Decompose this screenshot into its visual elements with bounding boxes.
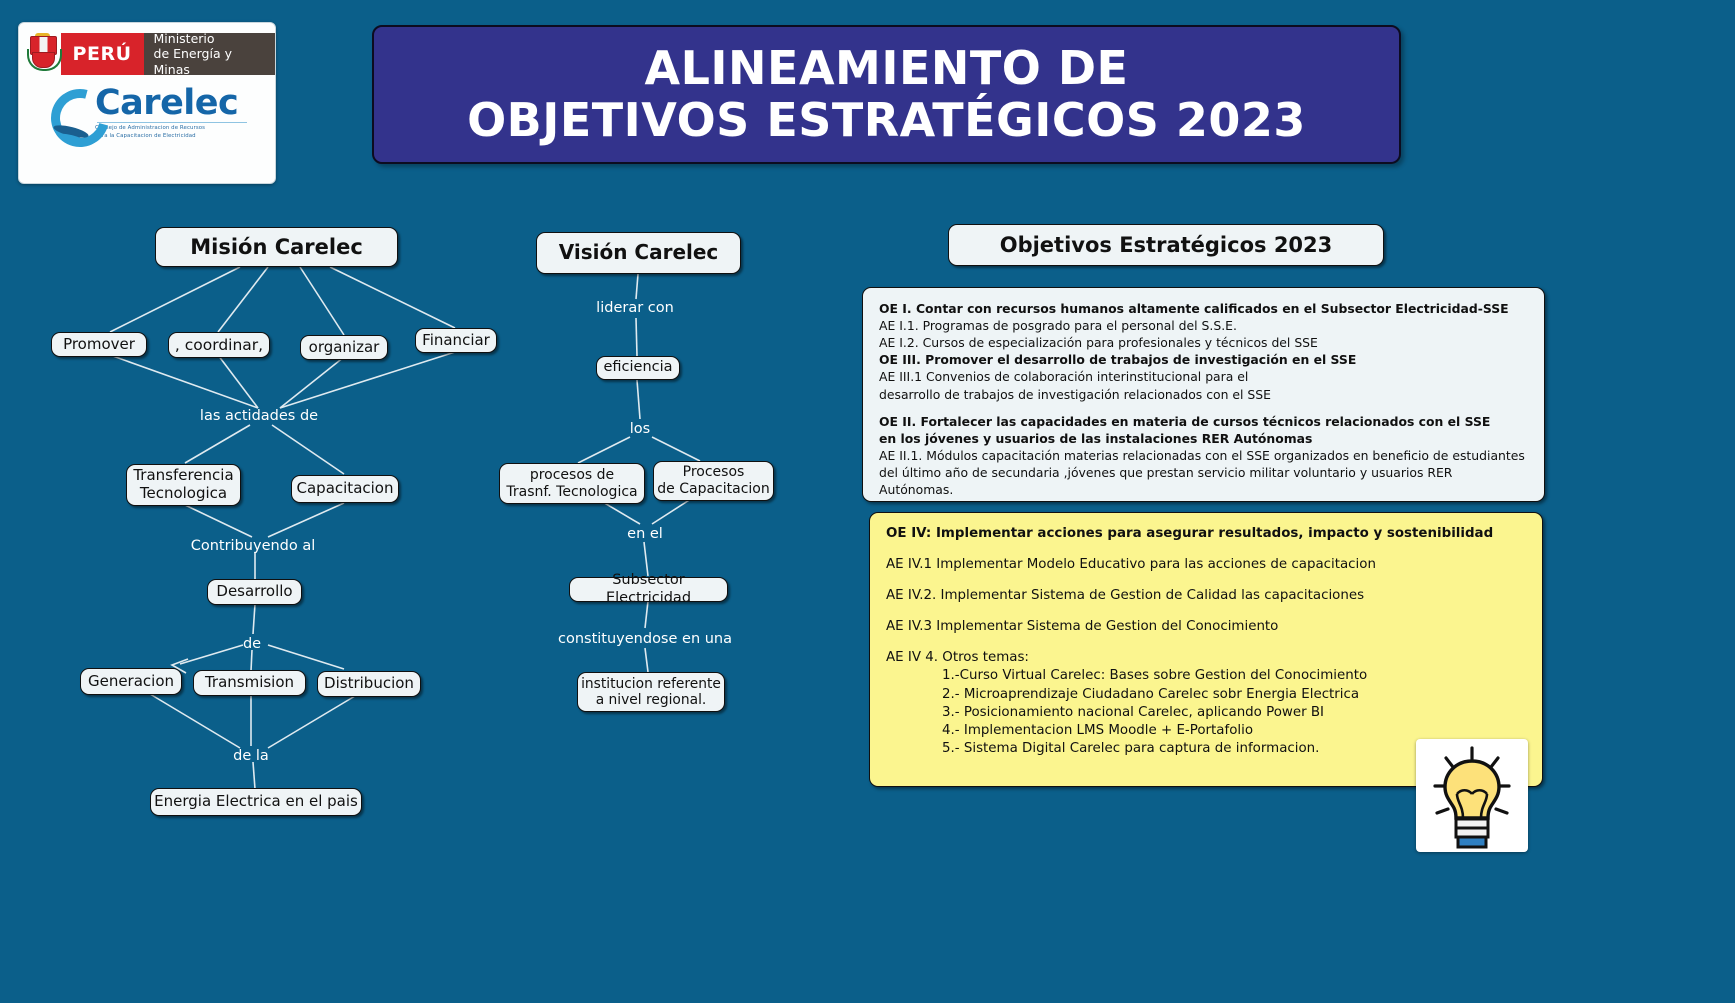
peru-label: PERÚ [61, 33, 144, 75]
node-distribucion[interactable]: Distribucion [317, 671, 421, 697]
oe4-item-4: 4.- Implementacion LMS Moodle + E-Portaf… [886, 722, 1526, 740]
ae43-text: AE IV.3 Implementar Sistema de Gestion d… [886, 618, 1526, 636]
node-desarrollo[interactable]: Desarrollo [207, 579, 302, 605]
ae42-text: AE IV.2. Implementar Sistema de Gestion … [886, 587, 1526, 605]
node-mision-carelec[interactable]: Misión Carelec [155, 227, 398, 267]
oe2-title-line-1: OE II. Fortalecer las capacidades en mat… [879, 413, 1528, 430]
ae12-text: AE I.2. Cursos de especialización para p… [879, 334, 1528, 351]
link-label-de-la: de la [233, 748, 269, 764]
node-eficiencia[interactable]: eficiencia [596, 356, 680, 380]
ministry-line-2: de Energía y Minas [154, 46, 265, 77]
page-title-line-1: ALINEAMIENTO DE [467, 43, 1306, 95]
panel-spacer [879, 403, 1528, 413]
ministry-line-1: Ministerio [154, 31, 265, 46]
node-energia-electrica-en-el-pais[interactable]: Energia Electrica en el pais [150, 788, 362, 816]
node-financiar[interactable]: Financiar [415, 328, 497, 353]
ae21-text-line-2: del último año de secundaria ,jóvenes qu… [879, 464, 1528, 498]
oe3-title: OE III. Promover el desarrollo de trabaj… [879, 351, 1528, 368]
page-title-banner: ALINEAMIENTO DE OBJETIVOS ESTRATÉGICOS 2… [372, 25, 1401, 164]
node-subsector-electricidad[interactable]: Subsector Electricidad [569, 577, 728, 602]
ae21-text-line-1: AE II.1. Módulos capacitación materias r… [879, 447, 1528, 464]
carelec-tagline-1: Consejo de Administracion de Recursos [95, 125, 247, 132]
node-vision-carelec[interactable]: Visión Carelec [536, 232, 741, 274]
node-organizar[interactable]: organizar [300, 335, 388, 360]
ae31-text-line-1: AE III.1 Convenios de colaboración inter… [879, 368, 1528, 385]
carelec-swoosh-icon [47, 87, 99, 143]
node-capacitacion[interactable]: Capacitacion [291, 475, 399, 503]
page-title-line-2: OBJETIVOS ESTRATÉGICOS 2023 [467, 95, 1306, 147]
lightbulb-illustration [1416, 739, 1528, 852]
institution-logo-card: PERÚ Ministerio de Energía y Minas Carel… [18, 22, 276, 184]
link-label-de: de [243, 636, 261, 652]
ae31-text-line-2: desarrollo de trabajos de investigación … [879, 386, 1528, 403]
panel-objetivos-oe1-oe3-oe2: OE I. Contar con recursos humanos altame… [862, 287, 1545, 502]
oe4-item-2: 2.- Microaprendizaje Ciudadano Carelec s… [886, 686, 1526, 704]
ministry-name: Ministerio de Energía y Minas [144, 33, 275, 75]
concept-map-canvas: PERÚ Ministerio de Energía y Minas Carel… [0, 0, 1735, 1003]
lightbulb-icon [1416, 739, 1528, 852]
ae44-text: AE IV 4. Otros temas: [886, 649, 1526, 667]
ae41-text: AE IV.1 Implementar Modelo Educativo par… [886, 556, 1526, 574]
carelec-brand-text: Carelec [95, 87, 247, 120]
link-label-constituyendose-en-una: constituyendose en una [558, 631, 732, 647]
link-label-las-actividades-de: las actidades de [200, 408, 318, 424]
page-title: ALINEAMIENTO DE OBJETIVOS ESTRATÉGICOS 2… [467, 43, 1306, 146]
peru-coat-of-arms-icon [23, 33, 61, 75]
node-generacion[interactable]: Generacion [80, 668, 182, 695]
oe1-title: OE I. Contar con recursos humanos altame… [879, 300, 1528, 317]
ae11-text: AE I.1. Programas de posgrado para el pe… [879, 317, 1528, 334]
node-transferencia-tecnologica[interactable]: Transferencia Tecnologica [126, 464, 241, 506]
node-transmision[interactable]: Transmision [193, 670, 306, 696]
oe4-item-3: 3.- Posicionamiento nacional Carelec, ap… [886, 704, 1526, 722]
oe4-item-1: 1.-Curso Virtual Carelec: Bases sobre Ge… [886, 667, 1526, 685]
link-label-en-el: en el [627, 526, 663, 542]
link-label-los: los [630, 421, 650, 437]
node-coordinar[interactable]: , coordinar, [168, 332, 270, 358]
carelec-tagline-2: para la Capacitacion de Electricidad [95, 133, 247, 140]
oe4-title: OE IV: Implementar acciones para asegura… [886, 525, 1526, 543]
peru-ministry-logo: PERÚ Ministerio de Energía y Minas [23, 33, 275, 75]
oe2-title-line-2: en los jóvenes y usuarios de las instala… [879, 430, 1528, 447]
node-promover[interactable]: Promover [51, 332, 147, 357]
link-label-contribuyendo-al: Contribuyendo al [191, 538, 316, 554]
link-label-liderar-con: liderar con [596, 300, 674, 316]
node-institucion-referente[interactable]: institucion referente a nivel regional. [577, 672, 725, 712]
node-procesos-transferencia-tecnologica[interactable]: procesos de Trasnf. Tecnologica [499, 463, 645, 504]
carelec-wordmark: Carelec Consejo de Administracion de Rec… [95, 87, 247, 140]
node-procesos-de-capacitacion[interactable]: Procesos de Capacitacion [653, 461, 774, 501]
carelec-logo: Carelec Consejo de Administracion de Rec… [47, 87, 247, 143]
node-objetivos-estrategicos-2023[interactable]: Objetivos Estratégicos 2023 [948, 224, 1384, 266]
